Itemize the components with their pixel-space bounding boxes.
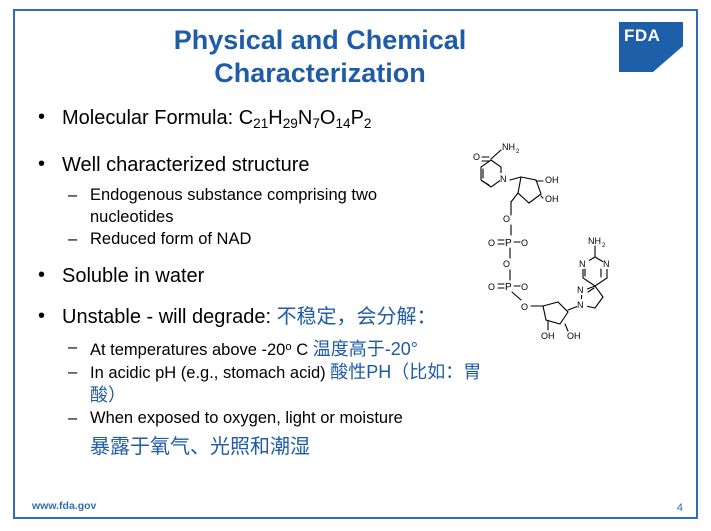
svg-text:P: P	[505, 282, 512, 293]
formula-sub-7: 7	[312, 116, 320, 131]
sub-bullet-label: nucleotides	[90, 208, 173, 226]
fda-logo-text: FDA	[624, 26, 660, 46]
formula-sub-2: 2	[364, 116, 372, 131]
sub-bullet-label: Reduced form of NAD	[90, 230, 251, 248]
dash-icon: –	[68, 336, 77, 358]
formula-sub-21: 21	[253, 116, 268, 131]
svg-text:N: N	[500, 174, 507, 184]
svg-text:O: O	[521, 238, 528, 248]
dash-icon: –	[68, 361, 77, 383]
spacer	[32, 250, 492, 263]
fda-logo-notch	[653, 46, 683, 72]
svg-text:O: O	[521, 282, 528, 292]
sub-bullet-label-tail: C	[292, 341, 309, 359]
svg-text:O: O	[488, 238, 495, 248]
bullet-molecular-formula: • Molecular Formula: C21H29N7O14P2	[32, 105, 492, 137]
svg-text:OH: OH	[567, 331, 581, 341]
slide: FDA Physical and Chemical Characterizati…	[0, 0, 711, 531]
spacer	[32, 291, 492, 304]
sub-bullet-endogenous: – Endogenous substance comprising two	[32, 184, 492, 206]
dash-icon: –	[68, 228, 77, 250]
svg-text:O: O	[488, 282, 495, 292]
svg-text:O: O	[503, 259, 510, 269]
svg-text:NH: NH	[588, 236, 601, 246]
bullet-label-chinese: 不稳定，会分解：	[277, 306, 437, 328]
formula-sub-14: 14	[335, 116, 350, 131]
slide-body: • Molecular Formula: C21H29N7O14P2 • Wel…	[32, 105, 492, 461]
bullet-dot-icon: •	[38, 262, 45, 288]
bullet-dot-icon: •	[38, 303, 45, 329]
dash-icon: –	[68, 407, 77, 429]
footer-url[interactable]: www.fda.gov	[32, 500, 96, 512]
formula-h: H	[268, 107, 282, 129]
nadh-chemical-structure: NH 2 O N OH OH	[455, 140, 695, 380]
formula-sub-29: 29	[283, 116, 298, 131]
fda-logo: FDA	[619, 22, 683, 72]
svg-text:2: 2	[602, 243, 606, 249]
sub-bullet-label: At temperatures above -20	[90, 341, 285, 359]
formula-n: N	[298, 107, 312, 129]
bullet-dot-icon: •	[38, 104, 45, 130]
svg-text:NH: NH	[502, 142, 515, 152]
bullet-label: Well characterized structure	[62, 154, 310, 176]
sub-bullet-nucleotides-cont: nucleotides	[32, 206, 492, 228]
sub-bullet-acidic-ph: – In acidic pH (e.g., stomach acid) 酸性PH…	[32, 361, 492, 407]
svg-text:O: O	[521, 302, 528, 312]
chinese-summary-line: 暴露于氧气、光照和潮湿	[32, 433, 492, 461]
svg-text:O: O	[473, 152, 480, 162]
bullet-unstable: • Unstable - will degrade: 不稳定，会分解：	[32, 304, 492, 330]
svg-text:N: N	[579, 259, 586, 269]
svg-text:O: O	[503, 214, 510, 224]
sub-bullet-label-chinese: 温度高于-20°	[313, 339, 418, 359]
svg-text:P: P	[505, 238, 512, 249]
svg-text:OH: OH	[545, 175, 559, 185]
footer-page-number: 4	[677, 502, 683, 514]
page-title-line1: Physical and Chemical	[60, 24, 580, 57]
sub-bullet-label: When exposed to oxygen, light or moistur…	[90, 409, 403, 427]
formula-prefix: Molecular Formula: C	[62, 107, 253, 129]
formula-p: P	[351, 107, 364, 129]
formula-o: O	[320, 107, 336, 129]
sub-bullet-label: In acidic pH (e.g., stomach acid)	[90, 364, 326, 382]
bullet-label: Soluble in water	[62, 265, 204, 287]
bullet-dot-icon: •	[38, 151, 45, 177]
svg-text:OH: OH	[545, 194, 559, 204]
page-title: Physical and Chemical Characterization	[60, 24, 580, 90]
sub-bullet-label: Endogenous substance comprising two	[90, 186, 377, 204]
bullet-soluble: • Soluble in water	[32, 263, 492, 289]
spacer	[32, 139, 492, 152]
sub-bullet-reduced-nad: – Reduced form of NAD	[32, 228, 492, 250]
sub-bullet-temperature: – At temperatures above -20o C 温度高于-20°	[32, 336, 492, 361]
page-title-line2: Characterization	[60, 57, 580, 90]
svg-text:OH: OH	[541, 331, 555, 341]
svg-text:N: N	[603, 259, 610, 269]
bullet-label: Unstable - will degrade:	[62, 306, 271, 328]
svg-text:N: N	[577, 285, 584, 295]
bullet-well-characterized: • Well characterized structure	[32, 152, 492, 178]
dash-icon: –	[68, 184, 77, 206]
svg-text:2: 2	[516, 149, 520, 155]
svg-text:N: N	[577, 300, 584, 310]
sub-bullet-oxygen-light: – When exposed to oxygen, light or moist…	[32, 407, 492, 429]
